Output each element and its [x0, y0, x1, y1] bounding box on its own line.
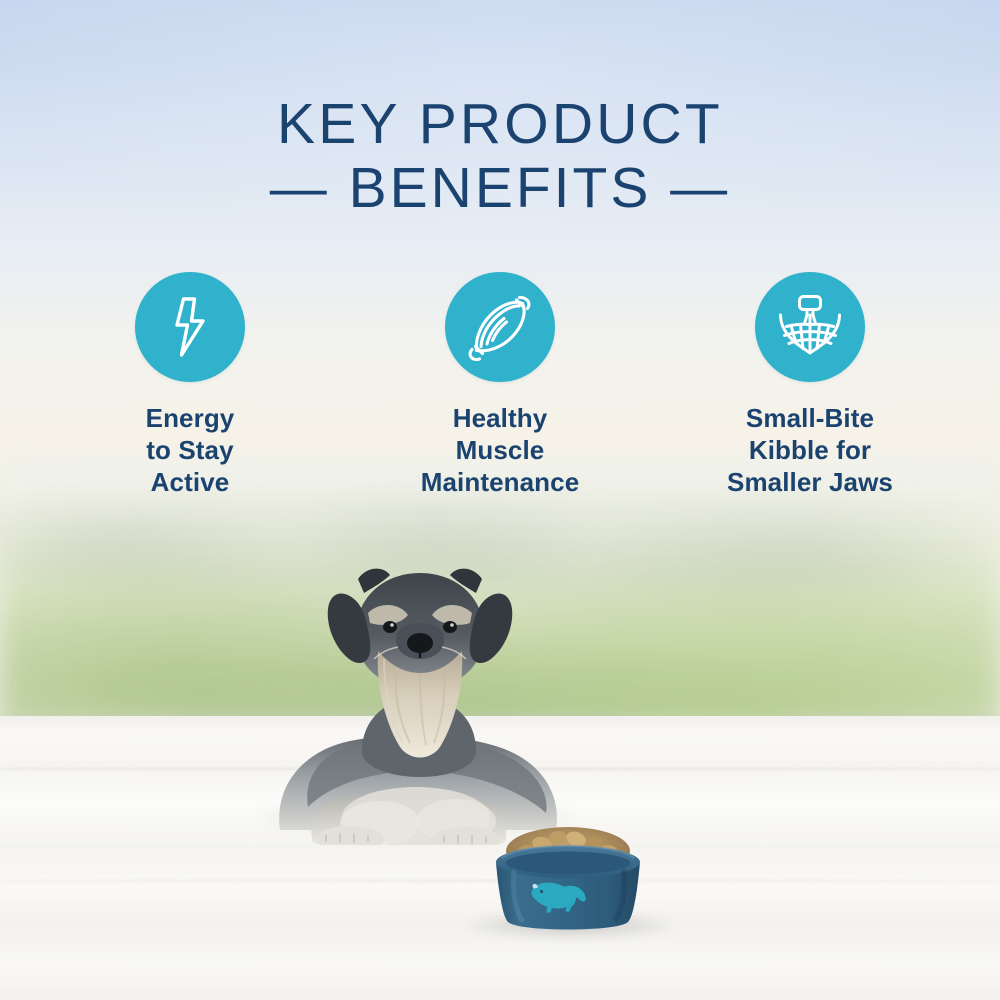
jaw-teeth-icon [774, 293, 846, 361]
benefit-icon-badge-muscle [445, 272, 555, 382]
benefit-label-muscle: Healthy Muscle Maintenance [421, 402, 580, 498]
benefit-label-line: Energy [146, 403, 235, 433]
benefit-icon-badge-kibble [755, 272, 865, 382]
benefit-label-line: Smaller Jaws [727, 467, 893, 497]
benefit-item-energy[interactable]: Energy to Stay Active [60, 272, 320, 498]
dog-food-bowl [478, 818, 658, 938]
lightning-bolt-icon [162, 296, 218, 358]
page-title-line-1: KEY PRODUCT [0, 92, 1000, 156]
benefit-item-kibble[interactable]: Small-Bite Kibble for Smaller Jaws [680, 272, 940, 498]
benefit-label-line: Active [151, 467, 230, 497]
benefits-row: Energy to Stay Active [60, 272, 940, 498]
benefit-label-line: Kibble for [749, 435, 871, 465]
benefit-label-line: Small-Bite [746, 403, 874, 433]
benefit-label-line: Maintenance [421, 467, 580, 497]
benefit-label-line: to Stay [146, 435, 233, 465]
benefit-label-line: Healthy [453, 403, 548, 433]
benefit-label-kibble: Small-Bite Kibble for Smaller Jaws [727, 402, 893, 498]
page-title: KEY PRODUCT — BENEFITS — [0, 92, 1000, 220]
benefit-item-muscle[interactable]: Healthy Muscle Maintenance [370, 272, 630, 498]
benefit-label-line: Muscle [456, 435, 545, 465]
benefit-label-energy: Energy to Stay Active [146, 402, 235, 498]
page-title-line-2: — BENEFITS — [0, 156, 1000, 220]
muscle-fiber-icon [466, 293, 534, 361]
benefit-icon-badge-energy [135, 272, 245, 382]
infographic-stage: KEY PRODUCT — BENEFITS — Energy to Stay … [0, 0, 1000, 1000]
schnauzer-dog-photo [250, 555, 590, 845]
